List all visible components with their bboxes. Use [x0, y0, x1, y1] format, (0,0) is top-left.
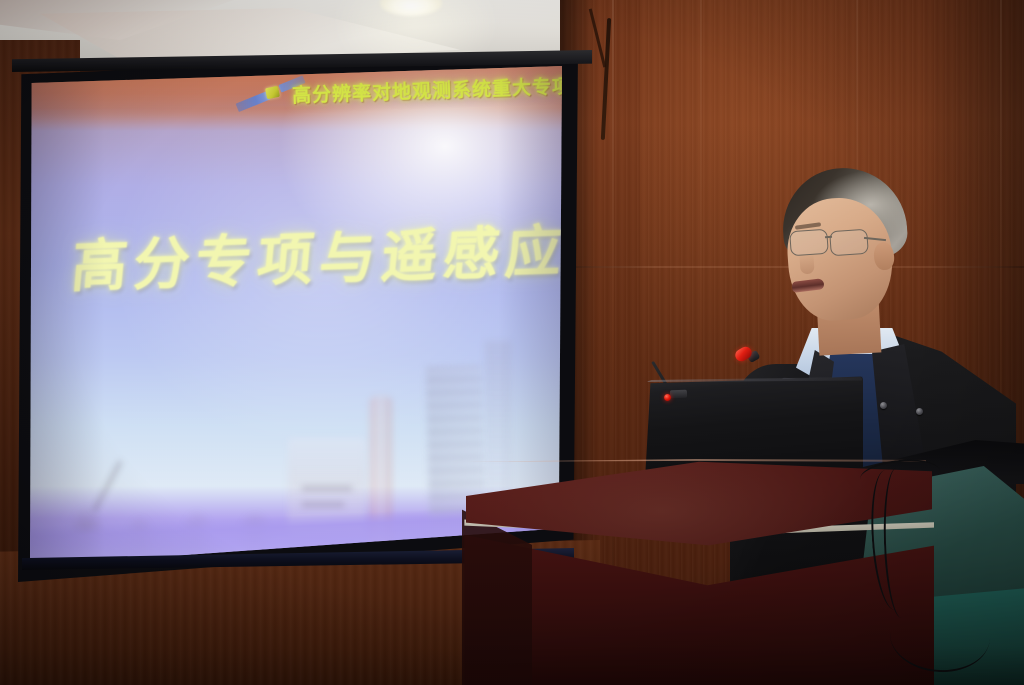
- jacket-button: [880, 402, 887, 409]
- laptop-logo-dot-icon: [664, 394, 671, 401]
- laptop-logo: [670, 390, 687, 399]
- wall-seam: [700, 0, 702, 685]
- projection-screen: 高分辨率对地观测系统重大专项 高分专项与遥感应用: [30, 66, 562, 566]
- eyeglasses-icon: [789, 229, 829, 257]
- slide-ghost-sign-line: [302, 502, 344, 507]
- jacket-button: [916, 408, 923, 415]
- slide-title: 高分专项与遥感应用: [68, 204, 562, 303]
- slide-ghost-sign-line: [302, 486, 352, 491]
- eyeglasses-icon: [829, 229, 869, 257]
- speaker-nose: [799, 254, 814, 275]
- presentation-photo: 高分辨率对地观测系统重大专项 高分专项与遥感应用: [0, 0, 1024, 685]
